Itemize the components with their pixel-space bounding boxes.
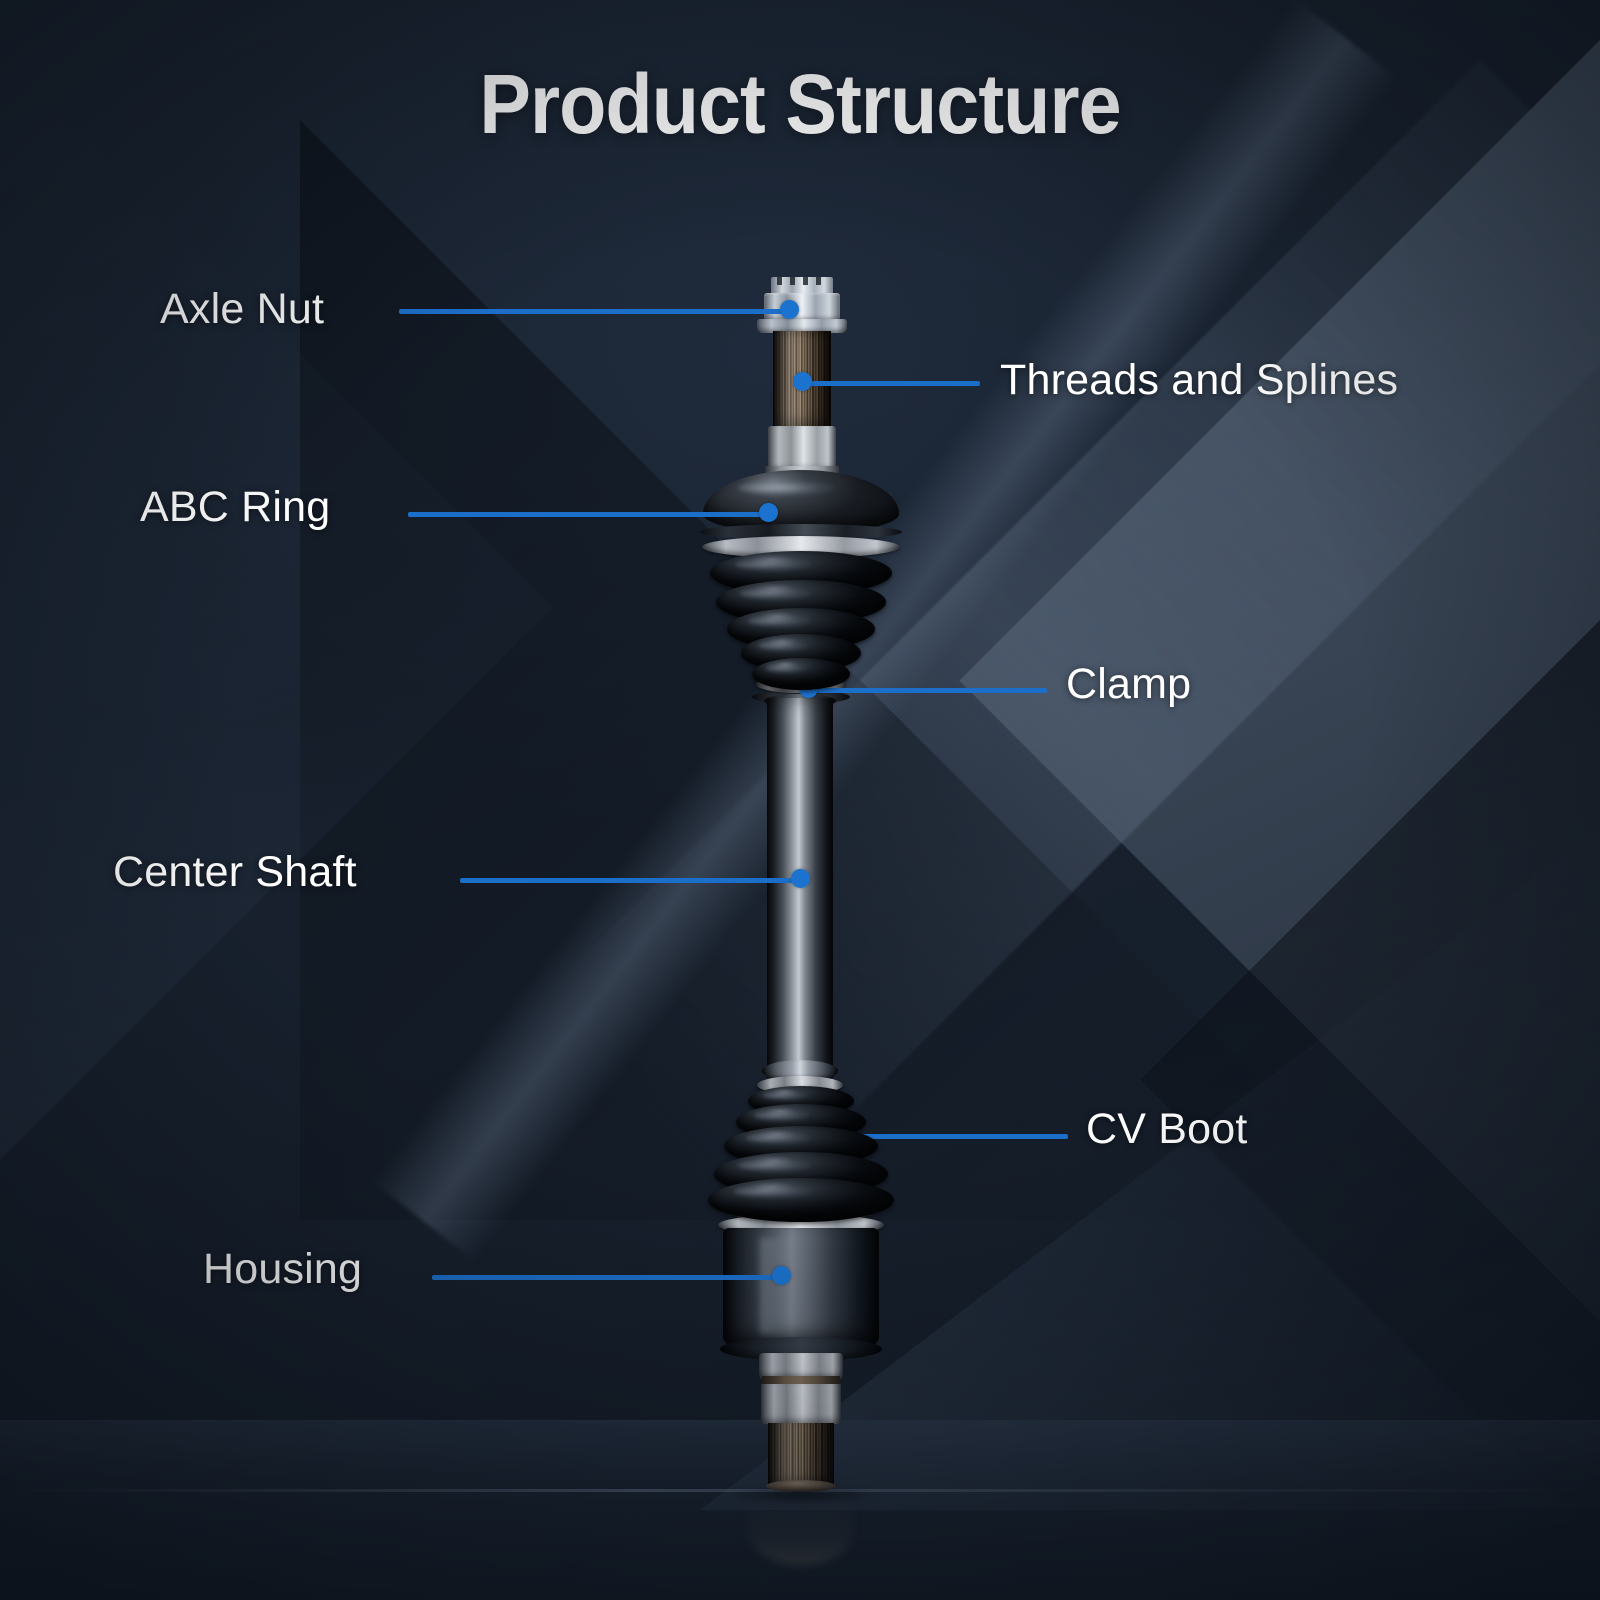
callout-leader-center-shaft: [460, 878, 800, 883]
callout-dot-center-shaft: [791, 869, 810, 888]
cv-boot-lower-pleat-sheen: [754, 1110, 809, 1121]
callout-label-cv-boot: CV Boot: [1086, 1105, 1248, 1154]
cv-boot-lower-pleat: [708, 1178, 894, 1222]
upper-joint-highlight: [738, 480, 834, 496]
cv-axle-illustration: [0, 0, 1600, 1600]
callout-leader-threads-and-splines: [808, 381, 980, 386]
page-title: Product Structure: [64, 56, 1536, 153]
stub-splines: [768, 1423, 834, 1485]
callout-leader-abs-ring: [408, 512, 768, 517]
stub-collar-lower: [761, 1384, 841, 1424]
callout-label-axle-nut: Axle Nut: [160, 285, 324, 334]
center-shaft-body: [767, 698, 833, 1078]
housing-body: [723, 1228, 879, 1346]
callout-dot-housing: [772, 1266, 791, 1285]
callout-dot-threads-and-splines: [793, 372, 812, 391]
cv-boot-lower-pleat-sheen: [763, 1091, 808, 1100]
callout-label-housing: Housing: [203, 1245, 362, 1294]
callout-label-center-shaft: Center Shaft: [113, 848, 357, 897]
product-reflection: [748, 1492, 854, 1566]
callout-leader-clamp: [817, 688, 1047, 693]
upper-joint-dome: [703, 470, 899, 532]
cv-boot-upper-pleat-sheen: [766, 663, 807, 673]
callout-label-clamp: Clamp: [1066, 660, 1191, 709]
callout-dot-axle-nut: [780, 300, 799, 319]
product-structure-graphic: Axle NutThreads and SplinesABC RingClamp…: [0, 0, 1600, 1600]
axle-nut-castellation: [771, 277, 833, 294]
axle-nut-hex-body: [764, 293, 840, 320]
callout-dot-abs-ring: [759, 503, 778, 522]
housing-highlight: [760, 1238, 794, 1334]
cv-boot-upper-pleat: [752, 658, 850, 690]
callout-label-threads-and-splines: Threads and Splines: [1000, 356, 1398, 405]
callout-leader-axle-nut: [399, 309, 789, 314]
callout-label-abs-ring: ABC Ring: [140, 483, 330, 532]
callout-leader-housing: [432, 1275, 780, 1280]
